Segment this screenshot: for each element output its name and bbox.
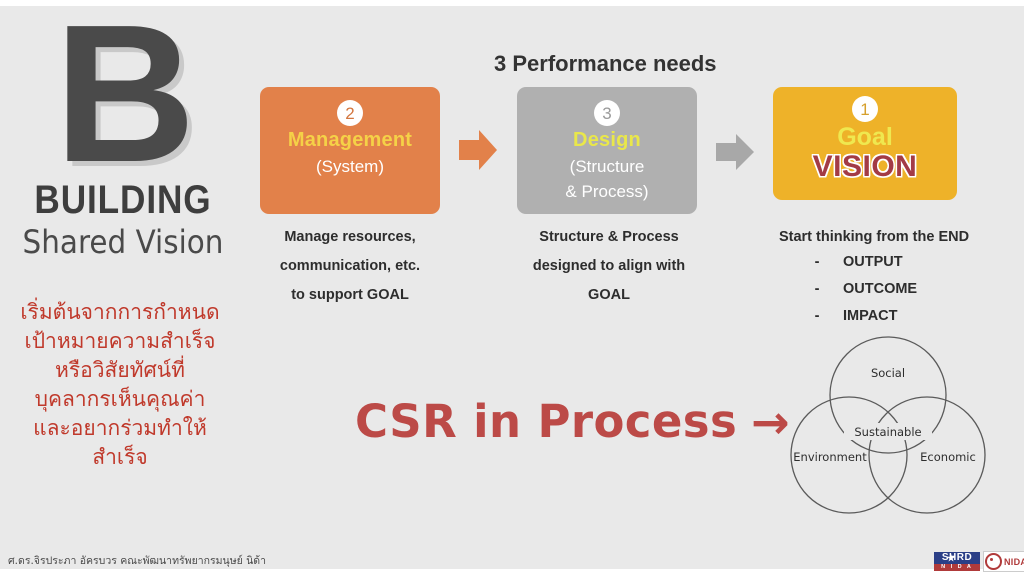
bullet-dash: -: [813, 303, 821, 330]
csr-label: CSR in Process: [355, 395, 737, 448]
caption-management-line3: to support GOAL: [255, 281, 445, 310]
caption-goal-heading: Start thinking from the END: [760, 223, 988, 252]
process-box-design: 3 Design (Structure & Process): [517, 87, 697, 214]
brand-block: B BUILDING Shared Vision: [0, 4, 246, 260]
process-box-goal: 1 Goal VISION: [773, 87, 957, 200]
nida-logo: NIDA: [983, 551, 1024, 572]
footer-credit: ศ.ดร.จิรประภา อัครบวร คณะพัฒนาทรัพยากรมน…: [8, 552, 266, 569]
caption-management: Manage resources, communication, etc. to…: [255, 223, 445, 310]
bullet-dash: -: [813, 249, 821, 276]
caption-design-line2: designed to align with: [513, 252, 705, 281]
box-subtitle-management: (System): [260, 154, 440, 179]
process-box-management: 2 Management (System): [260, 87, 440, 214]
thai-line-5: และอยากร่วมทำให้: [0, 414, 240, 443]
goal-item-output: OUTPUT: [843, 249, 935, 276]
goal-item-outcome: OUTCOME: [843, 276, 935, 303]
goal-item-impact: IMPACT: [843, 303, 935, 330]
box-subtitle-design-line1: (Structure: [517, 154, 697, 179]
target-circle-icon: [985, 553, 1002, 570]
caption-design: Structure & Process designed to align wi…: [513, 223, 705, 310]
list-item: - IMPACT: [760, 303, 988, 330]
csr-in-process-title: CSR in Process →: [355, 395, 790, 448]
slide-root: B BUILDING Shared Vision เริ่มต้นจากการก…: [0, 0, 1024, 576]
badge-number-2: 2: [337, 100, 363, 126]
bullet-dash: -: [813, 276, 821, 303]
goal-outcome-list: - OUTPUT - OUTCOME - IMPACT: [760, 249, 988, 330]
badge-number-1: 1: [852, 96, 878, 122]
shrd-logo-top: SHRD ★: [934, 552, 980, 564]
caption-design-line1: Structure & Process: [513, 223, 705, 252]
brand-letter-b: B: [0, 4, 246, 184]
brand-word-building: BUILDING: [15, 180, 231, 220]
thai-line-3: หรือวิสัยทัศน์ที่: [0, 356, 240, 385]
box-title-management: Management: [260, 129, 440, 152]
nida-logo-text: NIDA: [1004, 557, 1024, 567]
footer-logos: SHRD ★ N I D A NIDA: [934, 551, 1024, 572]
badge-number-3: 3: [594, 100, 620, 126]
thai-line-4: บุคลากรเห็นคุณค่า: [0, 385, 240, 414]
venn-label-environment: Environment: [793, 450, 867, 464]
venn-diagram: Social Environment Economic Sustainable: [776, 333, 1000, 519]
thai-line-6: สำเร็จ: [0, 443, 240, 472]
venn-label-sustainable: Sustainable: [854, 425, 921, 439]
thai-description: เริ่มต้นจากการกำหนด เป้าหมายความสำเร็จ ห…: [0, 298, 240, 472]
box-subtitle-design-line2: & Process): [517, 179, 697, 204]
caption-management-line1: Manage resources,: [255, 223, 445, 252]
box-title-design: Design: [517, 129, 697, 152]
venn-label-social: Social: [871, 366, 905, 380]
thai-line-2: เป้าหมายความสำเร็จ: [0, 327, 240, 356]
venn-label-economic: Economic: [920, 450, 976, 464]
star-icon: ★: [947, 552, 956, 564]
caption-management-line2: communication, etc.: [255, 252, 445, 281]
page-title: 3 Performance needs: [494, 51, 717, 77]
arrow-right-icon-gray: [716, 133, 754, 177]
caption-design-line3: GOAL: [513, 281, 705, 310]
shrd-logo-bottom: N I D A: [934, 564, 980, 571]
box-title-goal: Goal: [773, 123, 957, 152]
brand-tagline: Shared Vision: [10, 226, 236, 260]
box-subtitle-vision: VISION: [773, 150, 957, 184]
shrd-logo: SHRD ★ N I D A: [934, 552, 980, 571]
list-item: - OUTCOME: [760, 276, 988, 303]
list-item: - OUTPUT: [760, 249, 988, 276]
arrow-right-icon-orange: [459, 128, 497, 172]
thai-line-1: เริ่มต้นจากการกำหนด: [0, 298, 240, 327]
